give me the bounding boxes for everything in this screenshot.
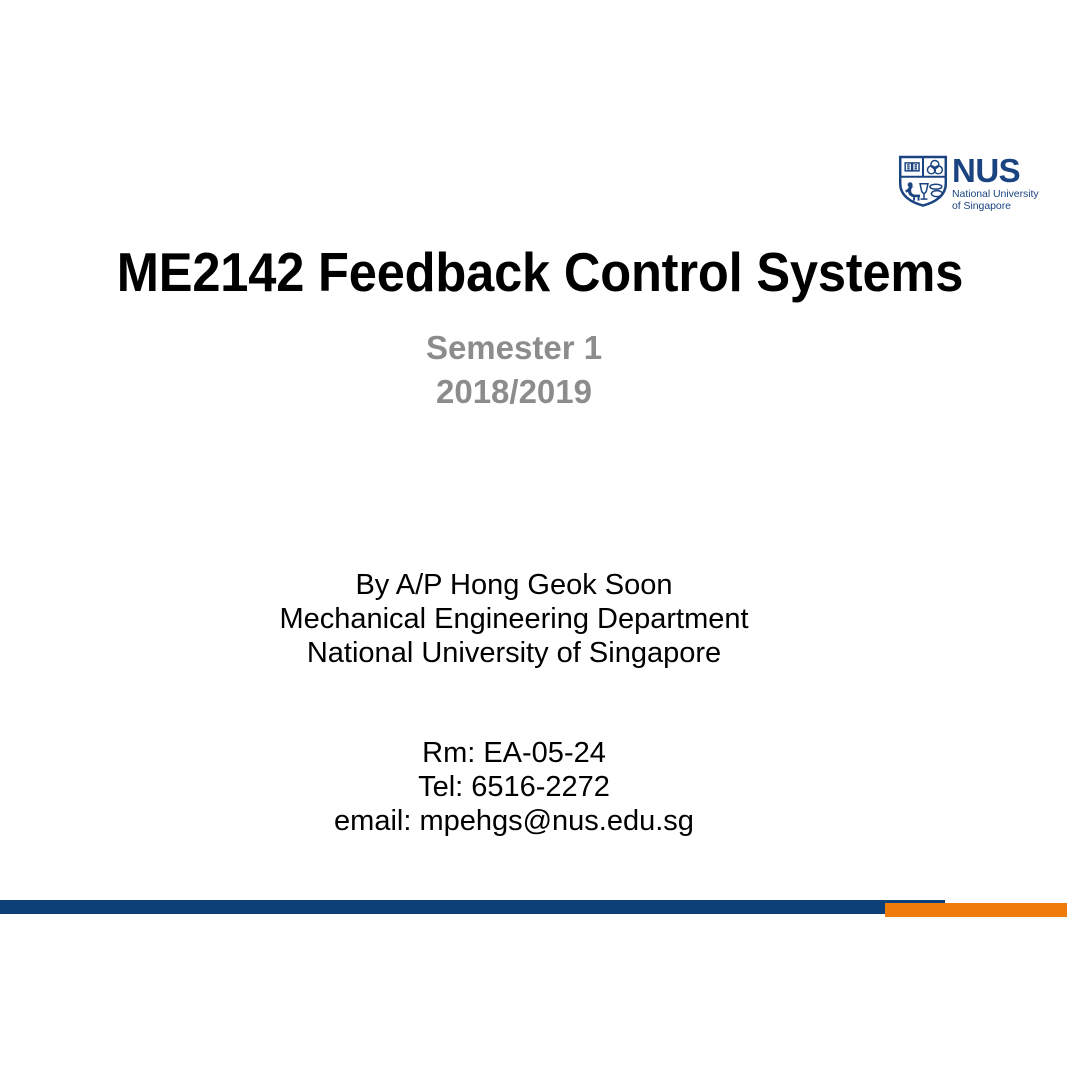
footer-bar-blue [0, 900, 945, 914]
contact-email: email: mpehgs@nus.edu.sg [0, 804, 1028, 838]
nus-wordmark-letters: NUS [952, 156, 1039, 185]
author-name: By A/P Hong Geok Soon [0, 568, 1028, 602]
subtitle-academic-year: 2018/2019 [0, 370, 1028, 414]
author-department: Mechanical Engineering Department [0, 602, 1028, 636]
nus-crest-shield-icon [898, 155, 948, 207]
contact-room: Rm: EA-05-24 [0, 736, 1028, 770]
subtitle-semester: Semester 1 [0, 326, 1028, 370]
footer-bar-orange [885, 903, 1067, 917]
contact-telephone: Tel: 6516-2272 [0, 770, 1028, 804]
nus-wordmark-subtext: National University of Singapore [952, 188, 1039, 213]
slide-subtitle: Semester 1 2018/2019 [0, 326, 1028, 414]
slide-canvas: NUS National University of Singapore ME2… [0, 0, 1080, 1080]
nus-logo: NUS National University of Singapore [898, 155, 1048, 215]
page-title: ME2142 Feedback Control Systems [43, 243, 1037, 302]
author-block: By A/P Hong Geok Soon Mechanical Enginee… [0, 568, 1028, 671]
nus-wordmark: NUS National University of Singapore [952, 155, 1039, 213]
nus-subtext-line-1: National University [952, 188, 1039, 200]
nus-subtext-line-2: of Singapore [952, 200, 1039, 212]
author-institution: National University of Singapore [0, 636, 1028, 670]
contact-block: Rm: EA-05-24 Tel: 6516-2272 email: mpehg… [0, 736, 1028, 839]
